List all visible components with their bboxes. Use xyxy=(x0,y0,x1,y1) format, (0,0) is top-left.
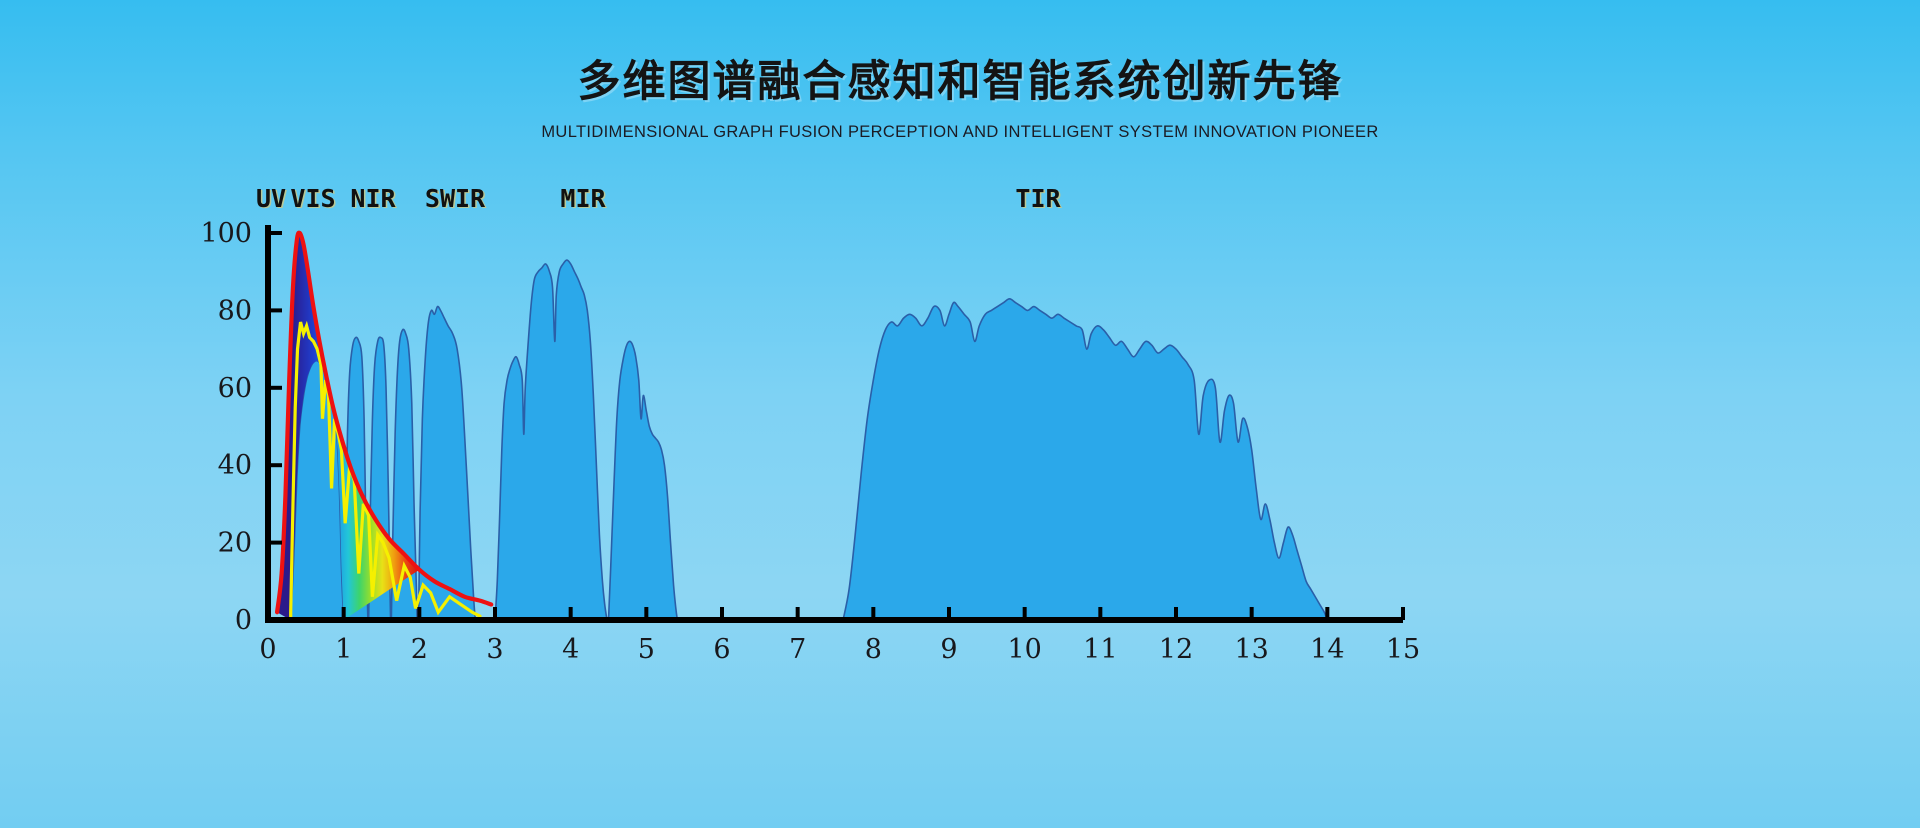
transmission-window xyxy=(843,299,1327,620)
y-tick-label: 0 xyxy=(235,605,252,636)
y-tick-label: 20 xyxy=(218,528,252,559)
x-tick-label: 0 xyxy=(259,634,276,665)
transmission-window xyxy=(609,341,678,620)
spectrum-chart-svg: 020406080100 0123456789101112131415 xyxy=(0,0,1920,828)
spectrum-chart: 020406080100 0123456789101112131415 xyxy=(0,0,1920,828)
x-tick-label: 4 xyxy=(562,634,579,665)
x-tick-label: 6 xyxy=(713,634,730,665)
x-tick-label: 8 xyxy=(865,634,882,665)
x-tick-label: 1 xyxy=(335,634,352,665)
poster-page: 多维图谱融合感知和智能系统创新先锋 MULTIDIMENSIONAL GRAPH… xyxy=(0,0,1920,828)
transmission-windows xyxy=(291,260,1328,620)
y-tick-label: 60 xyxy=(218,373,252,404)
x-tick-label: 3 xyxy=(486,634,503,665)
transmission-window xyxy=(495,260,607,620)
x-tick-label: 9 xyxy=(940,634,957,665)
x-tick-label: 7 xyxy=(789,634,806,665)
x-tick-label: 12 xyxy=(1159,634,1193,665)
x-tick-label: 15 xyxy=(1386,634,1420,665)
y-tick-label: 40 xyxy=(218,450,252,481)
y-tick-label: 80 xyxy=(218,295,252,326)
x-tick-label: 10 xyxy=(1007,634,1041,665)
x-tick-label: 5 xyxy=(638,634,655,665)
x-tick-label: 13 xyxy=(1234,634,1268,665)
y-tick-label: 100 xyxy=(200,218,252,249)
x-tick-label: 2 xyxy=(411,634,428,665)
x-tick-label: 11 xyxy=(1083,634,1117,665)
x-tick-label: 14 xyxy=(1310,634,1344,665)
transmission-window xyxy=(419,306,476,620)
